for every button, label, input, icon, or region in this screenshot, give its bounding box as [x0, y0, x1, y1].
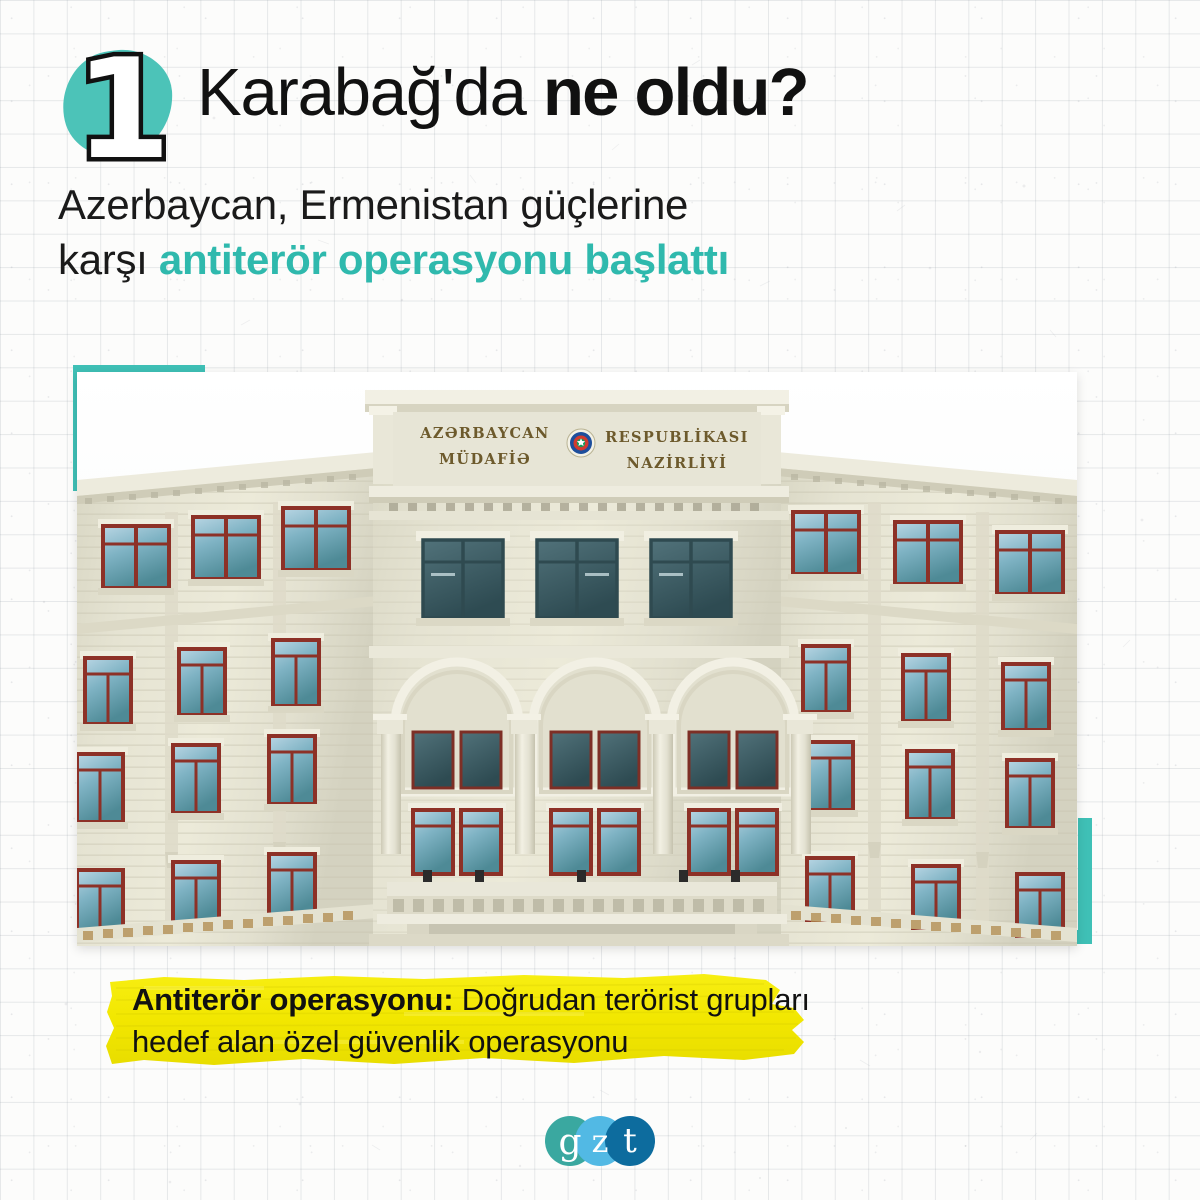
azerbaijan-state-emblem	[567, 429, 595, 457]
facade-sign-line2-left: MÜDAFİƏ	[439, 449, 531, 468]
facade-sign-line1-right: RESPUBLİKASI	[605, 427, 749, 446]
caption-zone: Antiterör operasyonu: Doğrudan terörist …	[104, 968, 904, 1072]
infographic-card: 1 Karabağ'da ne oldu? Azerbaycan, Ermeni…	[0, 0, 1200, 1200]
title-block: Karabağ'da ne oldu?	[197, 52, 1137, 134]
title-bold-part: ne oldu?	[543, 55, 808, 130]
facade-sign-line1-left: AZƏRBAYCAN	[419, 425, 549, 442]
logo-letter-g: g	[558, 1122, 581, 1163]
step-number-badge: 1	[56, 42, 190, 182]
photo-zone: AZƏRBAYCAN RESPUBLİKASI MÜDAFİƏ NAZİRLİY…	[60, 352, 1150, 962]
gzt-logo[interactable]: g z t	[536, 1112, 664, 1170]
facade-sign-line2-right: NAZİRLİYİ	[627, 453, 728, 472]
subtitle-line-1: Azerbaycan, Ermenistan güçlerine	[58, 181, 688, 228]
caption-text: Antiterör operasyonu: Doğrudan terörist …	[132, 979, 892, 1063]
building-photo: AZƏRBAYCAN RESPUBLİKASI MÜDAFİƏ NAZİRLİY…	[77, 372, 1077, 946]
page-title: Karabağ'da ne oldu?	[197, 52, 1137, 134]
subtitle: Azerbaycan, Ermenistan güçlerinekarşı an…	[58, 177, 1008, 287]
step-number-text: 1	[56, 38, 190, 182]
subtitle-line-2-regular: karşı	[58, 236, 159, 283]
subtitle-line-2-accent: antiterör operasyonu başlattı	[159, 236, 729, 283]
photo-frame: AZƏRBAYCAN RESPUBLİKASI MÜDAFİƏ NAZİRLİY…	[77, 372, 1077, 946]
logo-letter-t: t	[623, 1121, 637, 1161]
logo-letter-z: z	[592, 1122, 609, 1160]
caption-term: Antiterör operasyonu:	[132, 982, 453, 1017]
title-regular-part: Karabağ'da	[197, 55, 543, 130]
